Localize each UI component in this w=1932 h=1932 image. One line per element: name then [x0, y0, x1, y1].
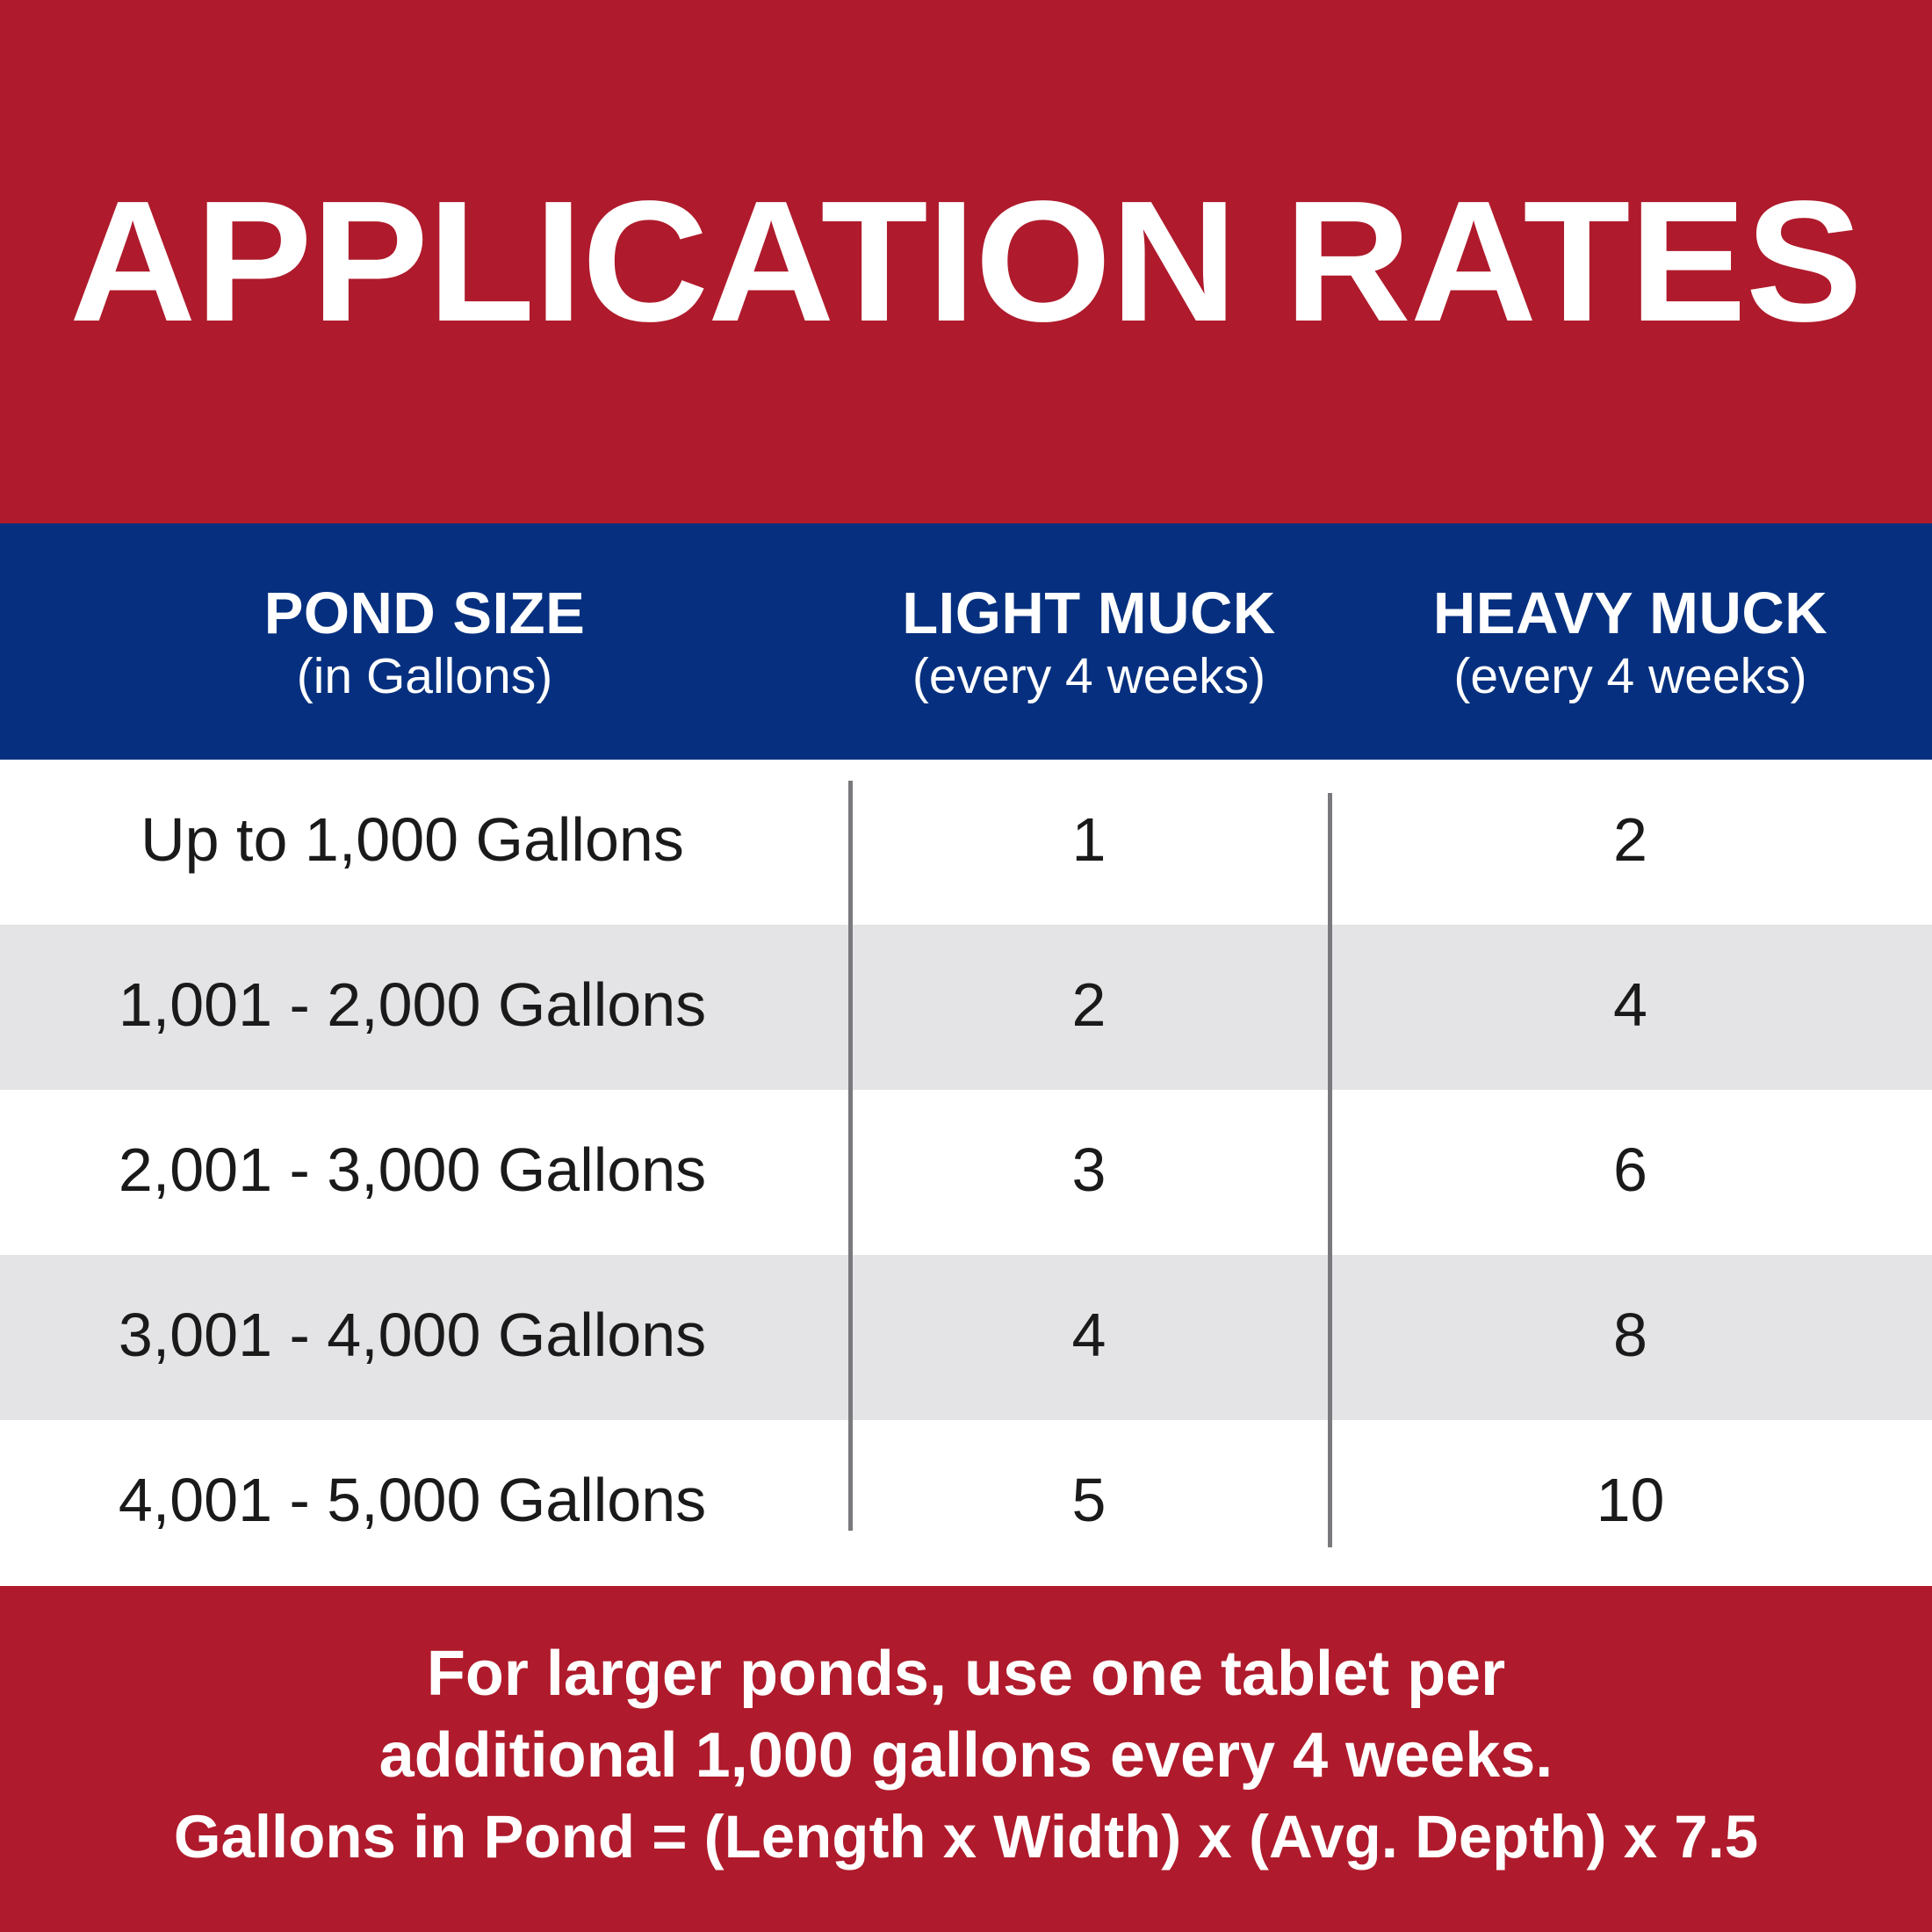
column-divider-right — [1328, 793, 1332, 1547]
column-header-pond-size-main: POND SIZE — [264, 582, 586, 645]
cell-light-muck: 4 — [849, 1255, 1329, 1420]
cell-heavy-muck: 8 — [1329, 1255, 1932, 1420]
footer-note-line-2: additional 1,000 gallons every 4 weeks. — [379, 1715, 1554, 1798]
table-row: 3,001 - 4,000 Gallons 4 8 — [0, 1255, 1932, 1420]
column-header-pond-size: POND SIZE (in Gallons) — [0, 577, 849, 707]
footer-note-line-3: Gallons in Pond = (Length x Width) x (Av… — [174, 1798, 1758, 1877]
table-header-row: POND SIZE (in Gallons) LIGHT MUCK (every… — [0, 523, 1932, 760]
cell-light-muck: 1 — [849, 760, 1329, 925]
footer-note-line-1: For larger ponds, use one tablet per — [427, 1633, 1505, 1716]
cell-heavy-muck: 6 — [1329, 1090, 1932, 1255]
column-header-pond-size-sub: (in Gallons) — [297, 647, 552, 706]
table-body: Up to 1,000 Gallons 1 2 1,001 - 2,000 Ga… — [0, 760, 1932, 1586]
cell-heavy-muck: 10 — [1329, 1420, 1932, 1585]
cell-heavy-muck: 4 — [1329, 925, 1932, 1090]
table-row: 1,001 - 2,000 Gallons 2 4 — [0, 925, 1932, 1090]
footer-note-banner: For larger ponds, use one tablet per add… — [0, 1586, 1932, 1932]
cell-pond-size: 2,001 - 3,000 Gallons — [0, 1090, 849, 1255]
title-banner: APPLICATION RATES — [0, 0, 1932, 523]
column-header-heavy-muck-main: HEAVY MUCK — [1433, 582, 1827, 645]
cell-pond-size: 3,001 - 4,000 Gallons — [0, 1255, 849, 1420]
cell-pond-size: Up to 1,000 Gallons — [0, 760, 849, 925]
cell-light-muck: 2 — [849, 925, 1329, 1090]
column-header-light-muck: LIGHT MUCK (every 4 weeks) — [849, 577, 1329, 707]
column-header-heavy-muck: HEAVY MUCK (every 4 weeks) — [1329, 577, 1932, 707]
column-header-light-muck-sub: (every 4 weeks) — [912, 647, 1265, 706]
cell-pond-size: 1,001 - 2,000 Gallons — [0, 925, 849, 1090]
cell-light-muck: 5 — [849, 1420, 1329, 1585]
table-row: 4,001 - 5,000 Gallons 5 10 — [0, 1420, 1932, 1585]
application-rates-infographic: APPLICATION RATES POND SIZE (in Gallons)… — [0, 0, 1932, 1932]
table-row: Up to 1,000 Gallons 1 2 — [0, 760, 1932, 925]
column-divider-left — [848, 781, 853, 1531]
cell-light-muck: 3 — [849, 1090, 1329, 1255]
page-title: APPLICATION RATES — [34, 176, 1899, 348]
cell-pond-size: 4,001 - 5,000 Gallons — [0, 1420, 849, 1585]
table-row: 2,001 - 3,000 Gallons 3 6 — [0, 1090, 1932, 1255]
column-header-heavy-muck-sub: (every 4 weeks) — [1453, 647, 1806, 706]
column-header-light-muck-main: LIGHT MUCK — [902, 582, 1276, 645]
cell-heavy-muck: 2 — [1329, 760, 1932, 925]
